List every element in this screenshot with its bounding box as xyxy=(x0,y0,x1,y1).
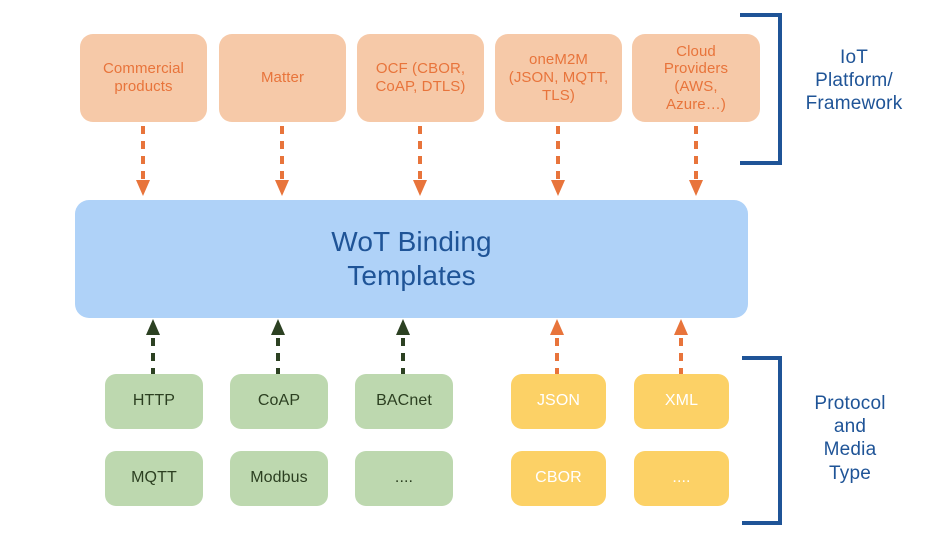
media-type-box-more[interactable]: .... xyxy=(634,451,729,506)
bracket-protocol-media-type xyxy=(738,353,786,528)
arrow-up-json xyxy=(546,318,570,378)
arrow-down-commercial-products xyxy=(126,124,162,200)
wot-binding-templates-box[interactable]: WoT Binding Templates xyxy=(75,200,748,318)
group-label-iot-platform: IoT Platform/ Framework xyxy=(786,46,922,116)
arrow-down-onem2m xyxy=(541,124,577,200)
media-type-box-cbor[interactable]: CBOR xyxy=(511,451,606,506)
media-type-box-xml[interactable]: XML xyxy=(634,374,729,429)
protocol-box-mqtt[interactable]: MQTT xyxy=(105,451,203,506)
arrow-down-matter xyxy=(265,124,301,200)
protocol-box-more[interactable]: .... xyxy=(355,451,453,506)
arrow-down-ocf xyxy=(403,124,439,200)
arrow-up-bacnet xyxy=(392,318,416,378)
arrow-down-cloud-providers xyxy=(679,124,715,200)
arrow-up-coap xyxy=(267,318,291,378)
platform-box-onem2m[interactable]: oneM2M (JSON, MQTT, TLS) xyxy=(495,34,622,122)
platform-box-commercial-products[interactable]: Commercial products xyxy=(80,34,207,122)
platform-box-ocf[interactable]: OCF (CBOR, CoAP, DTLS) xyxy=(357,34,484,122)
protocol-box-modbus[interactable]: Modbus xyxy=(230,451,328,506)
platform-box-matter[interactable]: Matter xyxy=(219,34,346,122)
bracket-iot-platform xyxy=(736,10,786,168)
diagram-canvas: Commercial products Matter OCF (CBOR, Co… xyxy=(0,0,926,533)
media-type-box-json[interactable]: JSON xyxy=(511,374,606,429)
protocol-box-http[interactable]: HTTP xyxy=(105,374,203,429)
arrow-up-http xyxy=(142,318,166,378)
group-label-protocol-media-type: Protocol and Media Type xyxy=(786,392,914,485)
arrow-up-xml xyxy=(670,318,694,378)
protocol-box-bacnet[interactable]: BACnet xyxy=(355,374,453,429)
protocol-box-coap[interactable]: CoAP xyxy=(230,374,328,429)
